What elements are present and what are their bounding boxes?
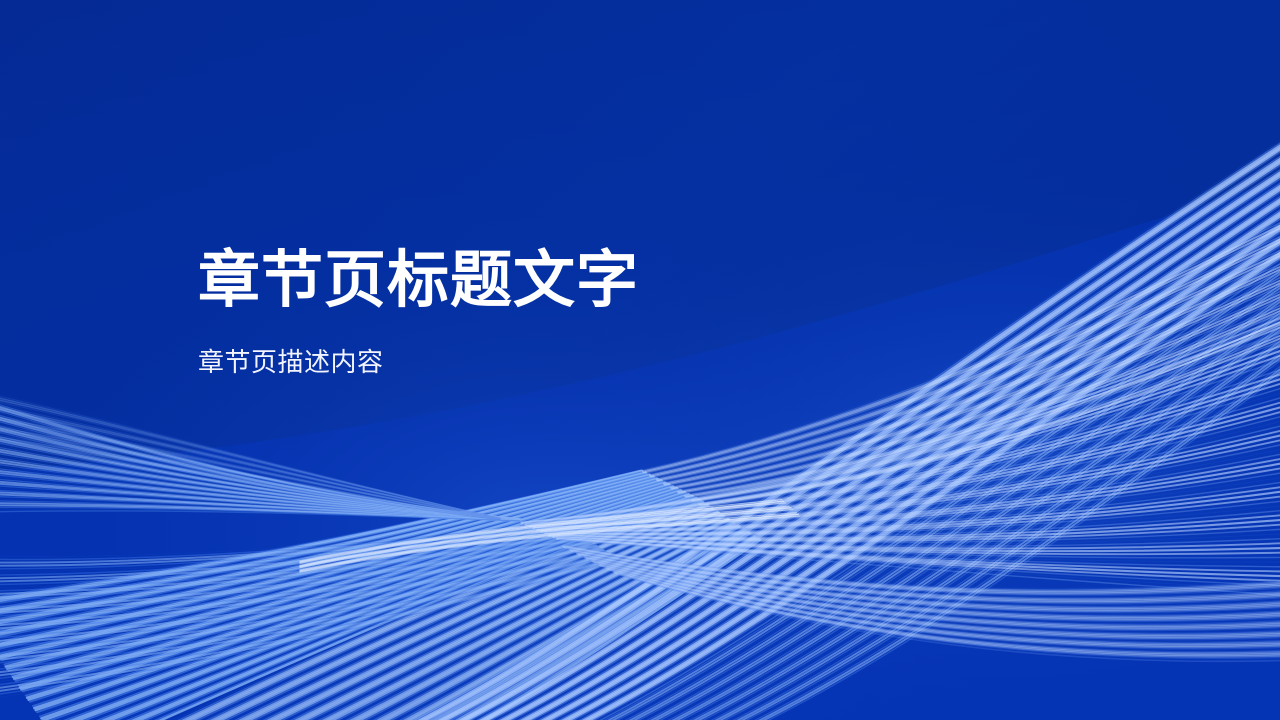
slide-canvas: 章节页标题文字 章节页描述内容 <box>0 0 1280 720</box>
page-title: 章节页标题文字 <box>198 248 639 315</box>
background-ribbon-decoration <box>0 0 1280 720</box>
page-subtitle: 章节页描述内容 <box>198 315 639 378</box>
slide-text-block: 章节页标题文字 章节页描述内容 <box>198 248 639 378</box>
